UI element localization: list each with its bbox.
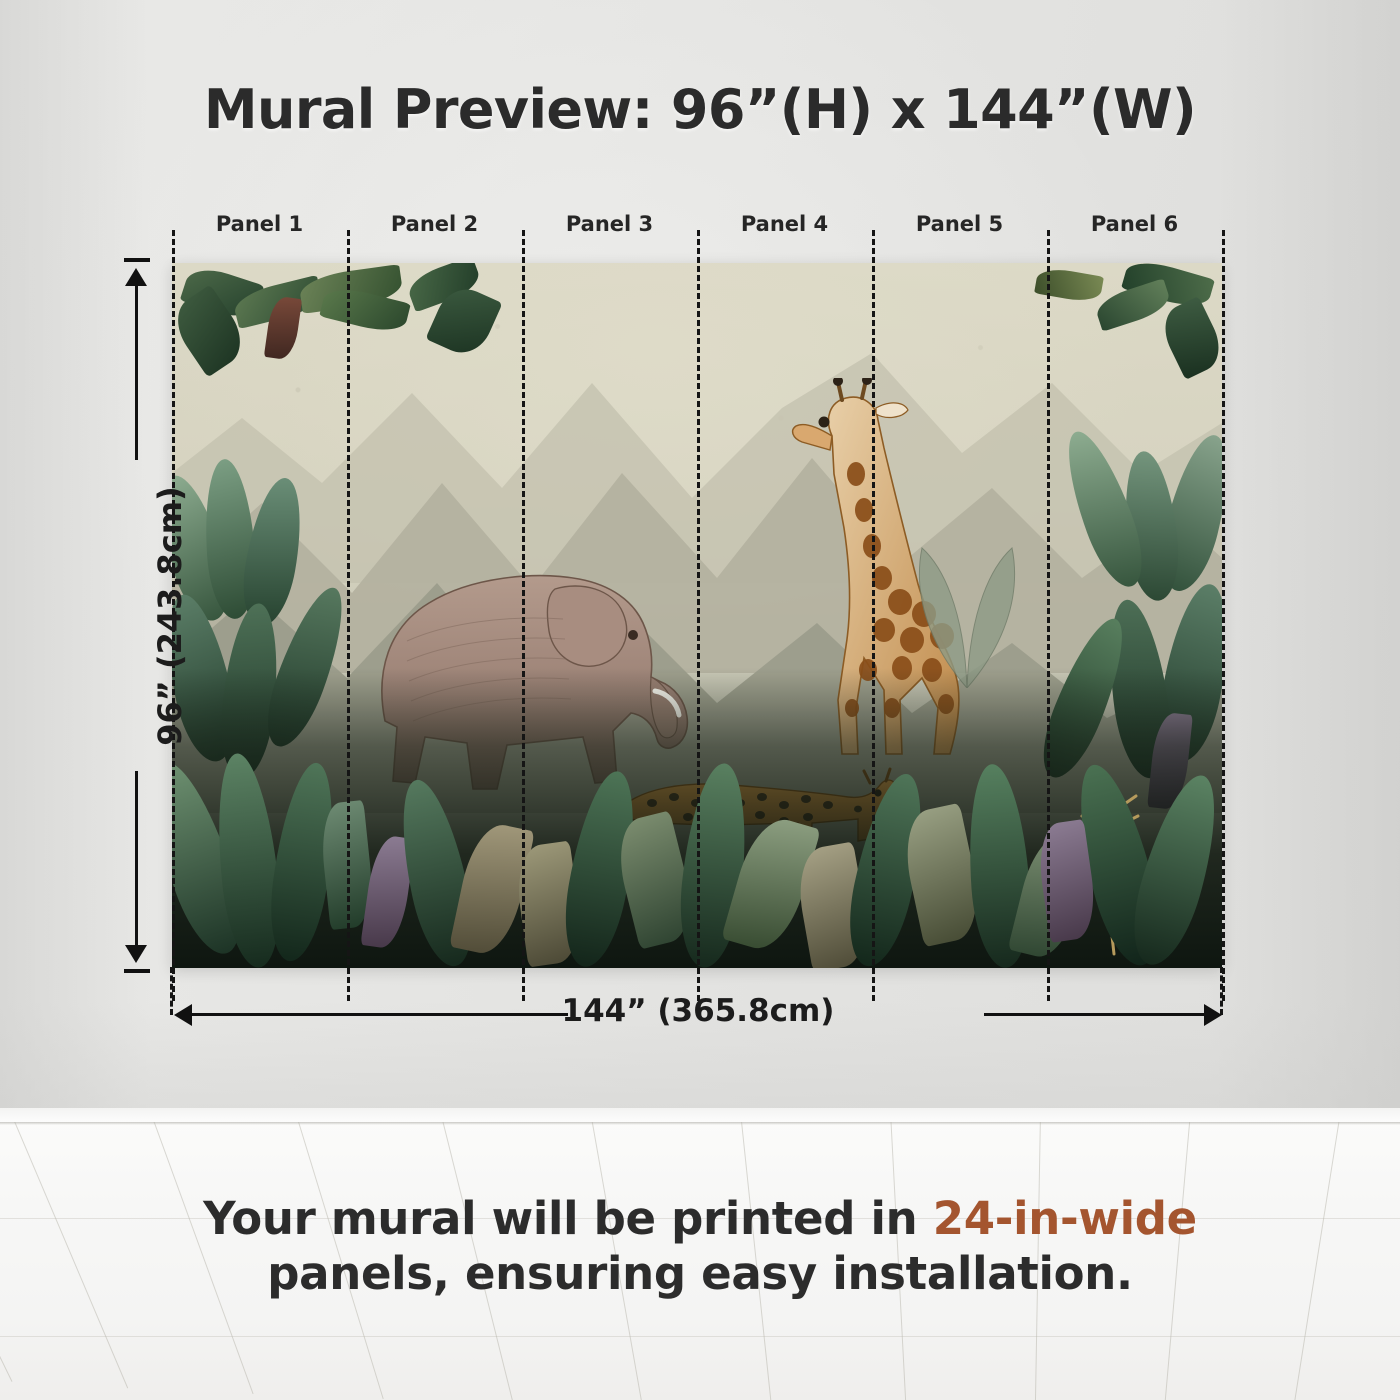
foliage-top-right (942, 263, 1222, 373)
height-tick-bottom (124, 969, 150, 973)
height-line-top (135, 278, 138, 460)
panel-label-2: Panel 2 (347, 212, 522, 246)
mural-preview-area (172, 263, 1222, 968)
wall-shadow-right (1210, 0, 1400, 1122)
panel-divider-1-2 (347, 230, 350, 1001)
panel-divider-5-6 (1047, 230, 1050, 1001)
panel-label-1: Panel 1 (172, 212, 347, 246)
height-line-bottom (135, 771, 138, 953)
width-label: 144” (365.8cm) (168, 993, 1228, 1029)
banana-frond (872, 488, 1062, 688)
panel-divider-3-4 (697, 230, 700, 1001)
baseboard (0, 1108, 1400, 1123)
page-title: Mural Preview: 96”(H) x 144”(W) (0, 78, 1400, 141)
height-tick-top (124, 258, 150, 262)
caption-line2: panels, ensuring easy installation. (267, 1247, 1133, 1300)
panel-label-3: Panel 3 (522, 212, 697, 246)
caption-line1-pre: Your mural will be printed in (203, 1192, 933, 1245)
panel-label-5: Panel 5 (872, 212, 1047, 246)
height-dimension: 96” (243.8cm) (118, 258, 178, 973)
panel-label-4: Panel 4 (697, 212, 872, 246)
panel-divider-2-3 (522, 230, 525, 1001)
caption-highlight: 24-in-wide (933, 1192, 1197, 1245)
footer-caption: Your mural will be printed in 24-in-wide… (90, 1192, 1310, 1302)
panel-edge-right (1222, 230, 1225, 1001)
mural-preview-stage: Mural Preview: 96”(H) x 144”(W) Panel 1 … (0, 0, 1400, 1400)
width-dimension: 144” (365.8cm) (168, 985, 1228, 1045)
height-label: 96” (243.8cm) (151, 456, 189, 776)
foliage-top-left (172, 263, 532, 353)
panel-divider-4-5 (872, 230, 875, 1001)
panel-label-6: Panel 6 (1047, 212, 1222, 246)
